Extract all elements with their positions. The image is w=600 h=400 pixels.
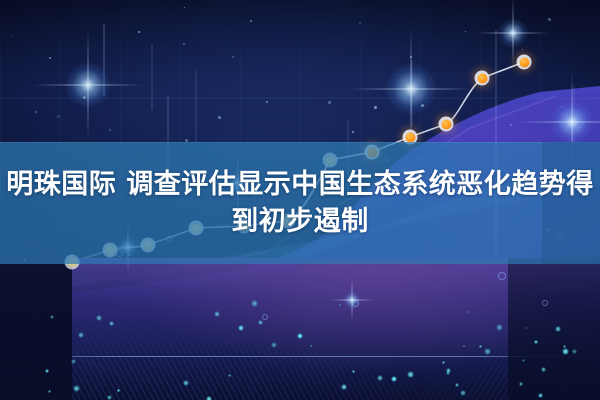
mesh-left-shadow: [0, 258, 72, 400]
star-dot: [561, 106, 562, 107]
cyan-particle: [339, 304, 341, 306]
star-dot: [465, 31, 466, 32]
cyan-particle: [525, 327, 527, 329]
cyan-particle: [538, 393, 543, 398]
star-dot: [522, 49, 523, 50]
star-dot: [328, 101, 331, 104]
cyan-particle: [463, 345, 465, 347]
cyan-particle: [519, 382, 523, 386]
cyan-particle: [534, 340, 538, 344]
cyan-particle: [297, 333, 303, 339]
star-dot: [35, 111, 37, 113]
ring-sparkle: [262, 314, 268, 320]
cyan-particle: [496, 324, 503, 331]
cyan-particle: [391, 376, 397, 382]
cyan-particle: [45, 369, 49, 373]
cyan-particle: [206, 396, 212, 400]
cyan-particle: [258, 320, 263, 325]
headline-line-2: 到初步遏制: [231, 203, 369, 240]
star-dot: [57, 115, 60, 118]
cyan-particle: [71, 359, 76, 364]
cyan-particle: [271, 342, 277, 348]
cyan-particle: [50, 315, 54, 319]
star-dot: [261, 4, 262, 5]
star-dot: [410, 56, 412, 58]
star-dot: [183, 43, 185, 45]
cyan-particle: [341, 384, 347, 390]
headline-line-1: 明珠国际 调查评估显示中国生态系统恶化趋势得: [6, 166, 593, 203]
star-dot: [548, 18, 551, 21]
cyan-particle: [460, 390, 466, 396]
star-dot: [352, 131, 354, 133]
cyan-particle: [446, 371, 450, 375]
ring-sparkle: [542, 300, 548, 306]
mesh-right-shadow: [508, 258, 600, 400]
chart-data-point: [475, 71, 490, 86]
cyan-particle: [78, 332, 84, 338]
cyan-particle: [238, 325, 244, 331]
star-dot: [579, 127, 580, 128]
cyan-particle: [555, 326, 561, 332]
star-dot: [431, 78, 432, 79]
star-dot: [232, 56, 234, 58]
star-dot: [49, 57, 51, 59]
chart-data-point: [439, 117, 454, 132]
headline-text-block: 明珠国际 调查评估显示中国生态系统恶化趋势得 到初步遏制: [0, 142, 600, 264]
ring-sparkle: [352, 300, 359, 307]
cyan-particle: [228, 374, 231, 377]
cyan-particle: [484, 348, 491, 355]
cyan-particle: [251, 300, 258, 307]
cyan-particle: [407, 371, 414, 378]
marker-core: [405, 132, 415, 142]
star-dot: [510, 124, 512, 126]
ring-sparkle: [498, 272, 506, 280]
cyan-particle: [352, 370, 355, 373]
cyan-particle: [117, 389, 120, 392]
cyan-particle: [73, 385, 80, 392]
cyan-particle: [310, 345, 312, 347]
marker-core: [477, 73, 487, 83]
star-dot: [266, 101, 268, 103]
cyan-particle: [541, 367, 546, 372]
star-dot: [218, 116, 221, 119]
star-dot: [374, 106, 377, 109]
chart-data-point: [517, 55, 532, 70]
star-dot: [359, 22, 361, 24]
cyan-particle: [442, 361, 445, 364]
cyan-particle: [455, 383, 459, 387]
star-dot: [138, 31, 140, 33]
marker-core: [441, 119, 451, 129]
banner-image: 明珠国际 调查评估显示中国生态系统恶化趋势得 到初步遏制: [0, 0, 600, 400]
cyan-particle: [107, 395, 112, 400]
cyan-particle: [572, 349, 577, 354]
star-dot: [184, 7, 185, 8]
star-dot: [83, 96, 86, 99]
cyan-particle: [562, 348, 569, 355]
cyan-particle: [214, 311, 220, 317]
star-dot: [11, 35, 12, 36]
marker-core: [519, 57, 529, 67]
cyan-particle: [183, 380, 189, 386]
cyan-particle: [479, 345, 482, 348]
cyan-particle: [48, 390, 51, 393]
cyan-particle: [522, 359, 525, 362]
cyan-particle: [467, 311, 469, 313]
cyan-particle: [377, 375, 383, 381]
star-dot: [421, 104, 424, 107]
cyan-particle: [96, 315, 102, 321]
cyan-particle: [109, 321, 114, 326]
star-dot: [109, 129, 111, 131]
star-dot: [250, 20, 252, 22]
